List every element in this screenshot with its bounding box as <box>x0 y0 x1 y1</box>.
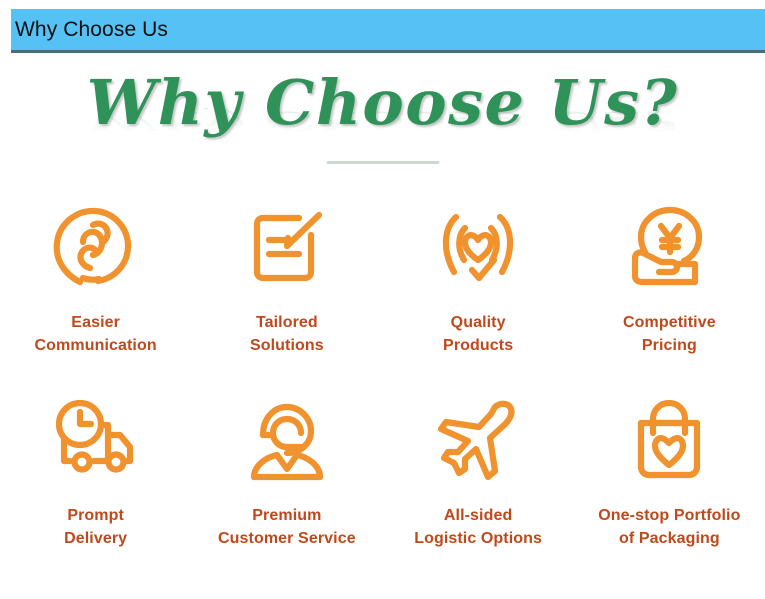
page-root: Why Choose Us Why Choose Us? Why Choose … <box>0 0 765 599</box>
feature-item-one-stop-portfolio[interactable]: One-stop Portfolio of Packaging <box>574 389 765 550</box>
feature-label: Prompt Delivery <box>64 505 127 550</box>
feature-label: Premium Customer Service <box>218 505 356 550</box>
page-title: Why Choose Us? <box>87 58 679 134</box>
headset-agent-icon <box>235 389 339 493</box>
ear-listening-icon <box>44 196 148 300</box>
feature-item-competitive-pricing[interactable]: Competitive Pricing <box>574 196 765 357</box>
feature-item-all-sided-logistic-options[interactable]: All-sided Logistic Options <box>383 389 574 550</box>
feature-item-premium-customer-service[interactable]: Premium Customer Service <box>191 389 382 550</box>
feature-label: Tailored Solutions <box>250 312 324 357</box>
hero-section: Why Choose Us? Why Choose Us? <box>0 58 765 168</box>
document-pencil-icon <box>235 196 339 300</box>
feature-label: Competitive Pricing <box>623 312 716 357</box>
delivery-truck-clock-icon <box>44 389 148 493</box>
feature-label: One-stop Portfolio of Packaging <box>598 505 740 550</box>
hero-title-wrap: Why Choose Us? Why Choose Us? <box>83 58 683 154</box>
feature-label: Quality Products <box>443 312 513 357</box>
window-top-strip <box>0 0 765 9</box>
hand-yen-coin-icon <box>617 196 721 300</box>
feature-grid: Easier Communication Tailored Solutions <box>0 196 765 551</box>
feature-item-easier-communication[interactable]: Easier Communication <box>0 196 191 357</box>
window-header-bar: Why Choose Us <box>11 9 765 53</box>
feature-label: All-sided Logistic Options <box>414 505 542 550</box>
title-divider <box>326 161 439 164</box>
window-title: Why Choose Us <box>11 18 168 42</box>
feature-item-quality-products[interactable]: Quality Products <box>383 196 574 357</box>
shopping-bag-heart-icon <box>617 389 721 493</box>
airplane-icon <box>426 389 530 493</box>
feature-item-prompt-delivery[interactable]: Prompt Delivery <box>0 389 191 550</box>
feature-label: Easier Communication <box>35 312 157 357</box>
heart-signal-check-icon <box>426 196 530 300</box>
feature-item-tailored-solutions[interactable]: Tailored Solutions <box>191 196 382 357</box>
